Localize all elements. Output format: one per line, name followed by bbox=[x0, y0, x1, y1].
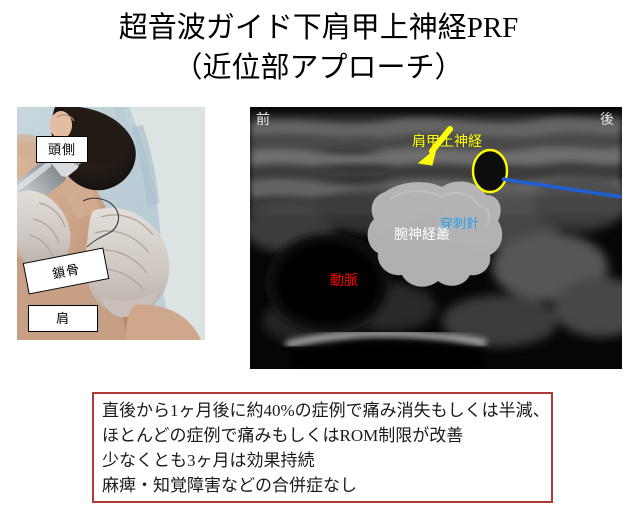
conclusion-line-2: ほとんどの症例で痛みもしくはROM制限が改善 bbox=[102, 423, 551, 448]
title-line-2: （近位部アプローチ） bbox=[0, 48, 637, 88]
us-label-artery: 動脈 bbox=[330, 275, 358, 289]
clinical-photo: 頭側 鎖骨 肩 bbox=[17, 107, 205, 340]
photo-label-clavicle-text: 鎖骨 bbox=[51, 262, 81, 280]
photo-label-shoulder-text: 肩 bbox=[56, 312, 70, 325]
photo-label-cephalad-text: 頭側 bbox=[48, 143, 76, 156]
conclusion-line-4: 麻痺・知覚障害などの合併症なし bbox=[102, 473, 551, 498]
conclusion-line-3: 少なくとも3ヶ月は効果持続 bbox=[102, 448, 551, 473]
us-label-posterior: 後 bbox=[600, 114, 614, 128]
suprascapular-nerve-marker bbox=[473, 150, 507, 192]
us-label-needle: 穿刺針 bbox=[440, 217, 479, 230]
ultrasound-panel: 前 後 肩甲上神経 腕神経叢 動脈 第一肋骨 穿刺針 bbox=[250, 107, 622, 369]
photo-label-cephalad: 頭側 bbox=[36, 136, 88, 163]
us-label-brachial-plexus: 腕神経叢 bbox=[394, 229, 450, 243]
page-title: 超音波ガイド下肩甲上神経PRF （近位部アプローチ） bbox=[0, 8, 637, 88]
us-label-anterior: 前 bbox=[256, 114, 270, 128]
slide-root: 超音波ガイド下肩甲上神経PRF （近位部アプローチ） bbox=[0, 0, 637, 509]
us-label-suprascapular-nerve: 肩甲上神経 bbox=[412, 136, 482, 150]
photo-label-shoulder: 肩 bbox=[28, 305, 98, 332]
conclusion-box: 直後から1ヶ月後に約40%の症例で痛み消失もしくは半減、 ほとんどの症例で痛みも… bbox=[92, 392, 553, 503]
conclusion-line-1: 直後から1ヶ月後に約40%の症例で痛み消失もしくは半減、 bbox=[102, 398, 551, 423]
title-line-1: 超音波ガイド下肩甲上神経PRF bbox=[0, 8, 637, 48]
